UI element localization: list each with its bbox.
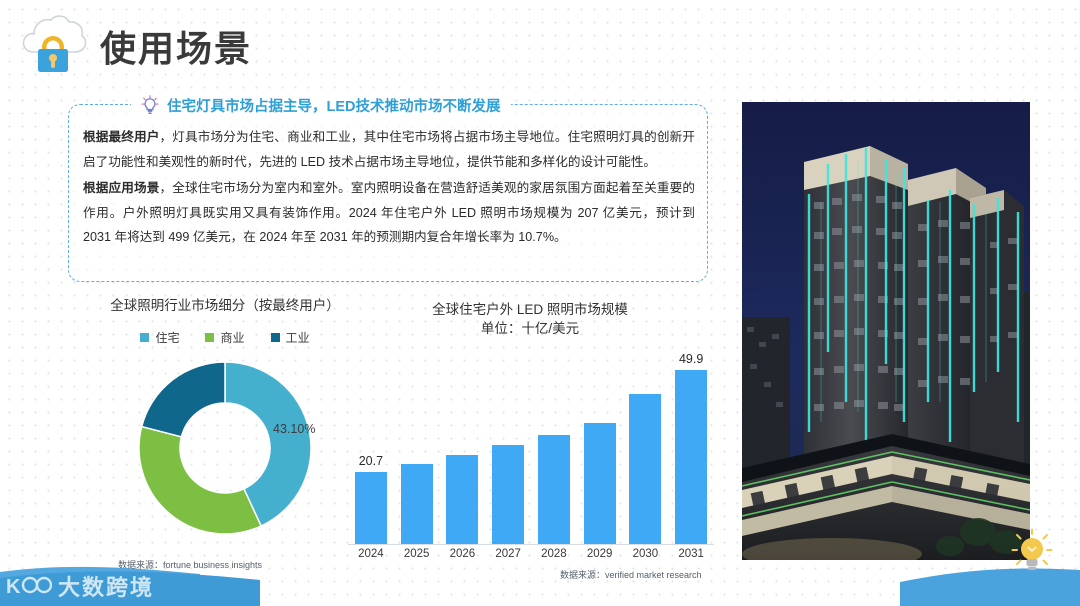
legend-item-residential: 住宅 bbox=[140, 329, 179, 346]
footer-wave bbox=[0, 564, 1080, 606]
callout-paragraph-1: 根据最终用户，灯具市场分为住宅、商业和工业，其中住宅市场将占据市场主导地位。住宅… bbox=[83, 125, 695, 174]
callout-paragraph-1-lead: 根据最终用户 bbox=[83, 130, 160, 144]
x-tick-2028: 2028 bbox=[532, 548, 576, 560]
x-tick-2025: 2025 bbox=[395, 548, 439, 560]
donut-slice-商业 bbox=[139, 427, 261, 534]
cloud-lock-icon bbox=[20, 12, 88, 74]
night-residential-building-led-lighting-photo bbox=[742, 102, 1030, 560]
bar-column: 49.9 bbox=[675, 352, 707, 544]
slide-root: 使用场景 住宅灯具市场占据主导，LED技术推动市场不断发展 根据最终用户，灯具市… bbox=[0, 0, 1080, 606]
x-tick-2031: 2031 bbox=[669, 548, 713, 560]
watermark-mark-icon: K bbox=[6, 573, 52, 599]
bar-column bbox=[538, 352, 570, 544]
x-tick-2027: 2027 bbox=[486, 548, 530, 560]
bar-2025 bbox=[401, 464, 433, 544]
bar-column bbox=[401, 352, 433, 544]
x-tick-2024: 2024 bbox=[349, 548, 393, 560]
callout-paragraph-2: 根据应用场景，全球住宅市场分为室内和室外。室内照明设备在营造舒适美观的家居氛围方… bbox=[83, 176, 695, 250]
watermark-text: 大数跨境 bbox=[58, 570, 154, 602]
lightbulb-icon bbox=[141, 95, 159, 115]
legend-label-commercial: 商业 bbox=[220, 329, 244, 346]
svg-text:K: K bbox=[6, 576, 21, 598]
footer-lightbulb-icon bbox=[1010, 528, 1054, 576]
bar-value-label-2031: 49.9 bbox=[669, 352, 713, 366]
callout-body: 根据最终用户，灯具市场分为住宅、商业和工业，其中住宅市场将占据市场主导地位。住宅… bbox=[83, 125, 695, 252]
bar-chart-x-axis bbox=[348, 544, 714, 545]
bar-2026 bbox=[446, 455, 478, 544]
legend-swatch-industrial bbox=[271, 333, 280, 342]
bar-chart-plot-area: 20.749.9 bbox=[348, 352, 714, 544]
bar-2027 bbox=[492, 445, 524, 544]
callout-title-wrap: 住宅灯具市场占据主导，LED技术推动市场不断发展 bbox=[131, 94, 511, 116]
bar-chart-title: 全球住宅户外 LED 照明市场规模 bbox=[330, 300, 730, 319]
page-title: 使用场景 bbox=[100, 20, 252, 72]
slide-header: 使用场景 bbox=[0, 0, 1080, 88]
bar-2030 bbox=[629, 394, 661, 544]
bar-column: 20.7 bbox=[355, 352, 387, 544]
bar-chart-subtitle: 单位：十亿/美元 bbox=[330, 319, 730, 338]
bar-column bbox=[492, 352, 524, 544]
legend-label-industrial: 工业 bbox=[286, 329, 310, 346]
legend-label-residential: 住宅 bbox=[155, 329, 179, 346]
x-tick-2026: 2026 bbox=[440, 548, 484, 560]
bar-2024 bbox=[355, 472, 387, 544]
bar-column bbox=[446, 352, 478, 544]
callout-paragraph-2-lead: 根据应用场景 bbox=[83, 181, 160, 195]
watermark-logo: K 大数跨境 bbox=[6, 570, 154, 602]
legend-item-commercial: 商业 bbox=[205, 329, 244, 346]
donut-svg bbox=[137, 360, 313, 536]
callout-paragraph-2-text: ，全球住宅市场分为室内和室外。室内照明设备在营造舒适美观的家居氛围方面起着至关重… bbox=[83, 181, 695, 244]
donut-chart-graphic: 43.10% bbox=[137, 360, 313, 536]
callout-box: 住宅灯具市场占据主导，LED技术推动市场不断发展 根据最终用户，灯具市场分为住宅… bbox=[68, 104, 708, 282]
x-tick-2029: 2029 bbox=[578, 548, 622, 560]
legend-swatch-commercial bbox=[205, 333, 214, 342]
bar-2029 bbox=[584, 423, 616, 544]
bar-value-label-2024: 20.7 bbox=[349, 454, 393, 468]
bar-2031 bbox=[675, 370, 707, 544]
bar-column bbox=[629, 352, 661, 544]
bar-2028 bbox=[538, 435, 570, 544]
callout-paragraph-1-text: ，灯具市场分为住宅、商业和工业，其中住宅市场将占据市场主导地位。住宅照明灯具的创… bbox=[83, 130, 695, 169]
x-tick-2030: 2030 bbox=[623, 548, 667, 560]
legend-swatch-residential bbox=[140, 333, 149, 342]
donut-slice-label-residential: 43.10% bbox=[273, 422, 315, 436]
legend-item-industrial: 工业 bbox=[271, 329, 310, 346]
callout-title: 住宅灯具市场占据主导，LED技术推动市场不断发展 bbox=[167, 95, 501, 116]
bar-chart-panel: 全球住宅户外 LED 照明市场规模 单位：十亿/美元 20.749.9 2024… bbox=[330, 300, 730, 586]
donut-slice-工业 bbox=[142, 362, 225, 437]
bar-column bbox=[584, 352, 616, 544]
